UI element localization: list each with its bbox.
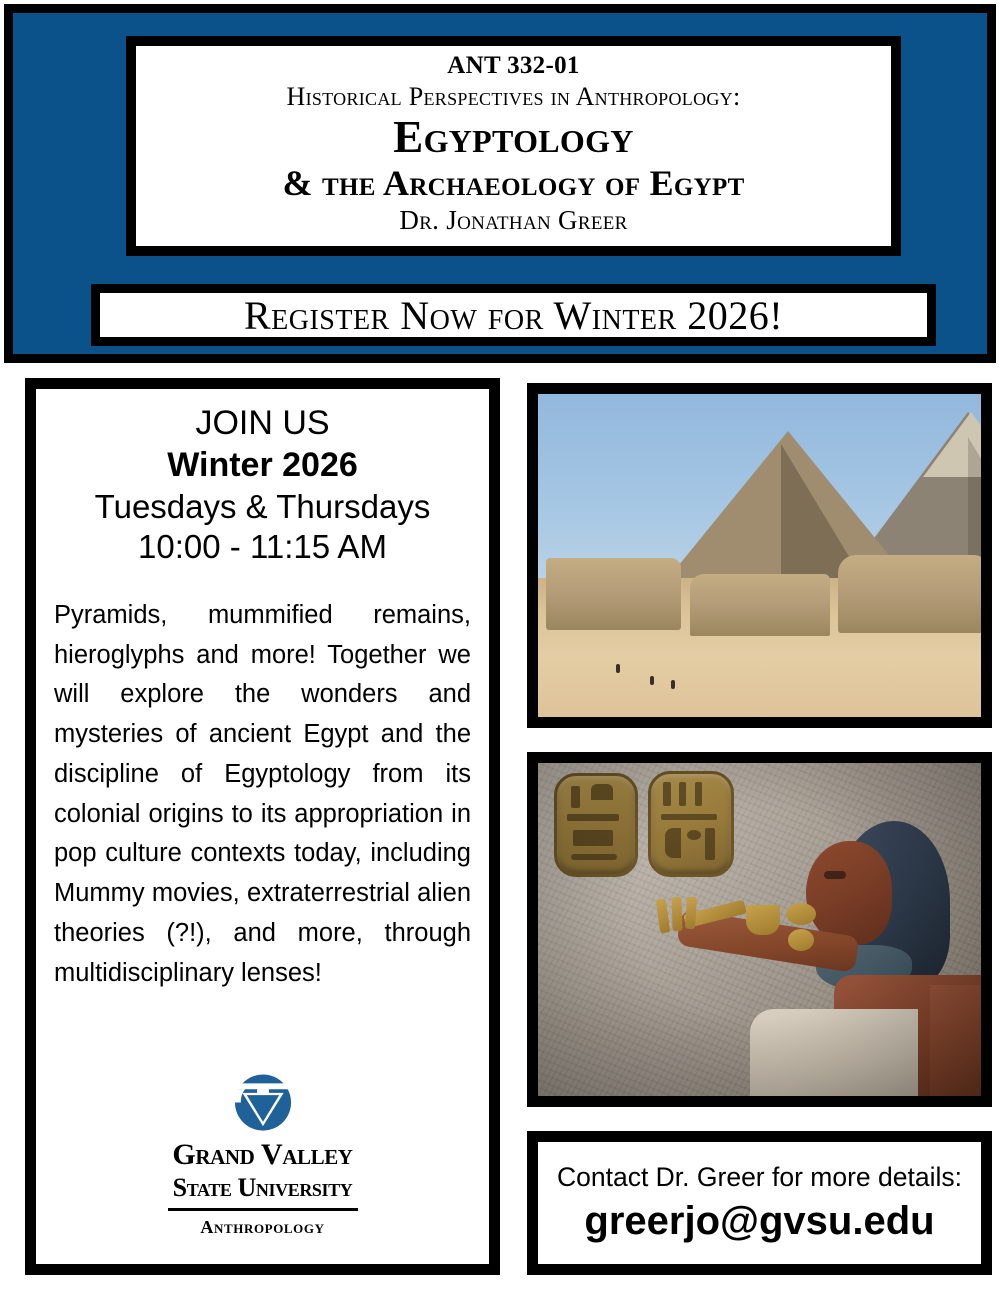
gvsu-logo: Grand Valley State University Anthropolo…	[54, 1073, 471, 1238]
relief-photo-content	[538, 763, 981, 1096]
pyramids-of-giza-photo	[527, 383, 992, 728]
contact-box: Contact Dr. Greer for more details: gree…	[527, 1131, 992, 1275]
ruins-block-left	[546, 558, 681, 630]
tourist-figure	[616, 664, 620, 673]
schedule-block: JOIN US Winter 2026 Tuesdays & Thursdays…	[54, 403, 471, 568]
header-band: ANT 332-01 Historical Perspectives in An…	[4, 4, 996, 363]
course-title-secondary: & the Archaeology of Egypt	[282, 164, 744, 202]
term-label: Winter 2026	[54, 445, 471, 487]
logo-divider	[168, 1208, 358, 1211]
course-description: Pyramids, mummified remains, hieroglyphs…	[54, 596, 471, 994]
instructor-name: Dr. Jonathan Greer	[399, 206, 627, 235]
contact-email[interactable]: greerjo@gvsu.edu	[584, 1199, 934, 1244]
tourist-figure	[671, 680, 675, 689]
pyramids-photo-content	[538, 394, 981, 717]
contact-prompt: Contact Dr. Greer for more details:	[557, 1162, 962, 1193]
gvsu-name-line-1: Grand Valley	[172, 1140, 352, 1170]
title-box: ANT 332-01 Historical Perspectives in An…	[126, 36, 901, 256]
course-details-panel: JOIN US Winter 2026 Tuesdays & Thursdays…	[25, 378, 500, 1275]
gvsu-name-line-2: State University	[173, 1175, 353, 1201]
ruins-block-right	[838, 555, 981, 633]
ruins-block-center	[690, 574, 830, 636]
register-banner-text: Register Now for Winter 2026!	[244, 292, 783, 339]
meeting-days: Tuesdays & Thursdays	[54, 487, 471, 528]
gvsu-shield-icon	[226, 1073, 300, 1135]
join-us-label: JOIN US	[54, 403, 471, 445]
course-subtitle: Historical Perspectives in Anthropology:	[287, 83, 741, 111]
register-banner: Register Now for Winter 2026!	[91, 284, 936, 346]
egyptian-relief-photo	[527, 752, 992, 1107]
course-code: ANT 332-01	[447, 53, 579, 80]
course-title-primary: Egyptology	[393, 114, 633, 162]
meeting-time: 10:00 - 11:15 AM	[54, 527, 471, 568]
tourist-figure	[650, 676, 654, 685]
department-label: Anthropology	[200, 1217, 324, 1238]
course-poster: ANT 332-01 Historical Perspectives in An…	[0, 0, 1000, 1294]
photo-vignette	[538, 763, 981, 1096]
